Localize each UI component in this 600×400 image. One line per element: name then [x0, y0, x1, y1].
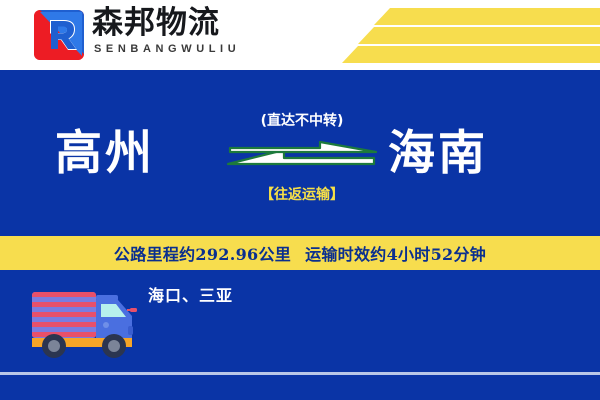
brand-name-cn: 森邦物流: [92, 6, 220, 40]
delivery-truck-icon: [26, 286, 142, 364]
route-info-bar: 公路里程约292.96公里 运输时效约4小时52分钟: [0, 236, 600, 270]
origin-city: 高州: [55, 128, 155, 180]
duration-text: 运输时效约4小时52分钟: [305, 241, 486, 265]
route-middle-block: (直达不中转) 【往返运输】: [222, 112, 382, 220]
logistics-route-poster: 森邦物流 SENBANGWULIU 高州 海南 (直达不中转) 【往返运输】 公…: [0, 0, 600, 400]
bottom-divider: [0, 372, 600, 375]
distance-text: 公路里程约292.96公里: [114, 241, 291, 265]
coverage-cities: 海口、三亚: [148, 282, 233, 306]
brand-name-en: SENBANGWULIU: [94, 43, 240, 55]
roundtrip-note: 【往返运输】: [222, 186, 382, 204]
direct-note: (直达不中转): [222, 112, 382, 130]
poster-header: 森邦物流 SENBANGWULIU: [0, 0, 600, 70]
destination-city: 海南: [388, 128, 488, 180]
yellow-diagonal-stripes-icon: [330, 0, 600, 70]
bidirectional-arrows-icon: [222, 138, 382, 179]
senbang-r-logo-icon: [34, 10, 84, 60]
